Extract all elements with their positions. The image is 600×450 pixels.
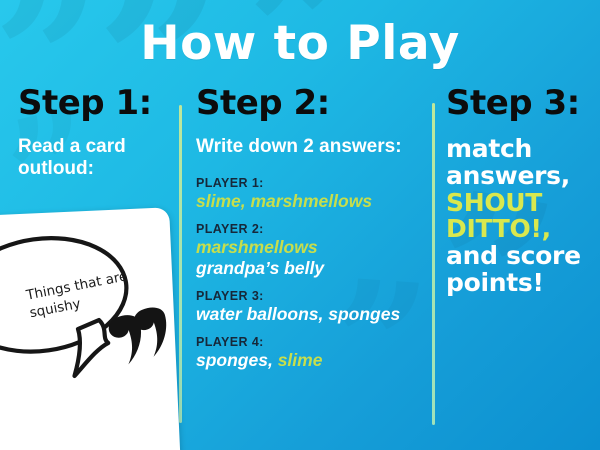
column-divider-2 [432,103,435,425]
player-answer-line: marshmellows [196,237,424,257]
step-3-body: match answers, SHOUT DITTO!, and score p… [446,136,596,297]
step-1-column: Step 1: Read a card outloud: [18,86,170,180]
step-1-subtitle: Read a card outloud: [18,136,170,180]
player-label: PLAYER 1: [196,176,424,191]
player-entry: PLAYER 4:sponges, slime [196,335,424,370]
player-entry: PLAYER 1:slime, marshmellows [196,176,424,211]
player-answer-text: grandpa’s belly [196,258,324,278]
player-label: PLAYER 4: [196,335,424,350]
step-2-heading: Step 2: [196,86,424,120]
player-answer-line: water balloons, sponges [196,304,424,324]
player-answer-text: water balloons, sponges [196,304,400,324]
step-2-subtitle: Write down 2 answers: [196,136,424,158]
player-answer-text: marshmellows [196,237,318,257]
page-title: How to Play [0,16,600,71]
player-entry: PLAYER 3:water balloons, sponges [196,289,424,324]
step-3-text: match answers, [446,134,570,190]
step-3-column: Step 3: match answers, SHOUT DITTO!, and… [446,86,596,297]
player-label: PLAYER 2: [196,222,424,237]
player-answer-text: sponges, [196,350,278,370]
speech-bubble: Things that are squishy [0,201,195,401]
player-entry: PLAYER 2:marshmellowsgrandpa’s belly [196,222,424,278]
step-3-highlight-text: SHOUT DITTO!, [446,188,551,244]
step-1-heading: Step 1: [18,86,170,120]
step-2-column: Step 2: Write down 2 answers: PLAYER 1:s… [196,86,424,382]
player-answer-line: slime, marshmellows [196,191,424,211]
step-3-heading: Step 3: [446,86,596,120]
player-answer-text: slime, marshmellows [196,191,372,211]
step-3-text: and score points! [446,241,581,297]
player-label: PLAYER 3: [196,289,424,304]
player-answer-line: grandpa’s belly [196,258,424,278]
player-answer-line: sponges, slime [196,350,424,370]
how-to-play-poster: ” ” ” ” ” ” How to Play Step 1: Read a c… [0,0,600,450]
player-answer-text: slime [278,350,323,370]
player-answer-list: PLAYER 1:slime, marshmellowsPLAYER 2:mar… [196,176,424,370]
